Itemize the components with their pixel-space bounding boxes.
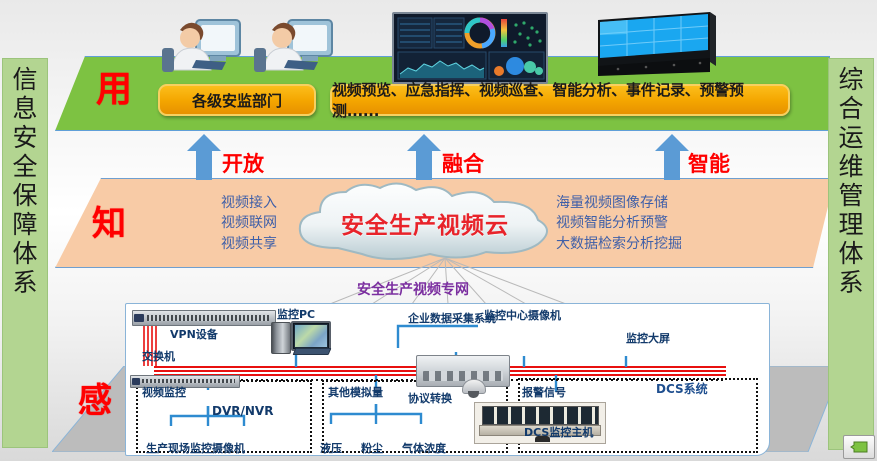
- dvr-nvr-label: DVR/NVR: [212, 404, 273, 418]
- video-wall-illustration: [588, 8, 722, 78]
- field-camera-caption: 生产现场监控摄像机: [146, 440, 245, 456]
- cloud-left-item-line-2: 视频共享: [132, 234, 277, 254]
- keyboard-icon: [293, 348, 332, 355]
- alarm-signal-title: 报警信号: [522, 384, 566, 400]
- left-pillar-char-4: 保: [12, 181, 37, 210]
- monitor-pc-label: 监控PC: [277, 306, 315, 322]
- layer-glyph-use: 用: [96, 60, 132, 112]
- switch-label: 交换机: [142, 348, 175, 364]
- pc-tower-icon: [271, 322, 291, 354]
- left-pillar-char-3: 全: [12, 152, 37, 181]
- bi-dashboard-illustration: [392, 12, 548, 84]
- arrow-label-fusion: 融合: [442, 148, 484, 178]
- cloud-title: 安全生产视频云: [280, 182, 570, 264]
- vpn-device-label: VPN设备: [170, 326, 218, 342]
- sensor-label-dust: 粉尘: [361, 440, 383, 456]
- vpn-device-icon: [132, 310, 276, 326]
- sensor-label-hydraulic: 液压: [320, 440, 342, 456]
- people-at-computers-illustration: [150, 8, 350, 78]
- cloud-right-item-line-1: 视频智能分析预警: [556, 213, 786, 233]
- dcs-host-label: DCS监控主机: [524, 424, 593, 440]
- right-pillar-char-5: 理: [838, 210, 863, 239]
- dcs-system-label: DCS系统: [656, 380, 708, 397]
- cloud-right-item-line-0: 海量视频图像存储: [556, 193, 786, 213]
- control-center-camera-icon: [462, 379, 486, 394]
- right-pillar-char-7: 系: [838, 268, 863, 297]
- right-pillar-char-4: 管: [838, 181, 863, 210]
- left-pillar-information-security: 信息安全保障体系: [2, 58, 48, 448]
- left-pillar-char-1: 息: [12, 94, 37, 123]
- network-topology-panel: VPN设备 交换机 监控PC 企业数据采集系统 监控中心摄像机 监控大屏 视频监…: [125, 303, 770, 456]
- right-pillar-char-0: 综: [838, 65, 863, 94]
- left-pillar-char-6: 体: [12, 239, 37, 268]
- video-surveillance-title: 视频监控: [142, 384, 186, 400]
- left-pillar-char-7: 系: [12, 268, 37, 297]
- monitor-large-screen-label: 监控大屏: [626, 330, 670, 346]
- cloud-right-item-line-2: 大数据检索分析挖掘: [556, 234, 786, 254]
- right-pillar-char-3: 维: [838, 152, 863, 181]
- cloud-left-capabilities: 视频接入视频联网视频共享: [132, 193, 277, 254]
- arrow-intelligent-icon: [655, 134, 689, 180]
- cloud-left-item-line-0: 视频接入: [132, 193, 277, 213]
- right-pillar-char-2: 运: [838, 123, 863, 152]
- function-box[interactable]: 视频预览、应急指挥、视频巡查、智能分析、事件记录、预警预测......: [330, 84, 790, 116]
- cloud-left-item-line-1: 视频联网: [132, 213, 277, 233]
- left-pillar-char-2: 安: [12, 123, 37, 152]
- diagram-canvas: 用 知 感 各级安监部门 视频预览、应急指挥、视频巡查、智能分析、事件记录、预警…: [0, 0, 877, 461]
- layer-glyph-sense: 感: [78, 373, 112, 422]
- protocol-converter-label: 协议转换: [408, 390, 452, 406]
- private-network-label: 安全生产视频专网: [357, 279, 469, 299]
- dept-box[interactable]: 各级安监部门: [158, 84, 316, 116]
- arrow-label-intelligent: 智能: [688, 148, 730, 178]
- arrow-open-icon: [187, 134, 221, 180]
- control-center-camera-label: 监控中心摄像机: [484, 307, 561, 323]
- corner-arrow-icon[interactable]: [843, 435, 875, 459]
- cloud-right-capabilities: 海量视频图像存储视频智能分析预警大数据检索分析挖掘: [556, 193, 786, 254]
- layer-glyph-know: 知: [92, 196, 126, 245]
- analog-signals-title: 其他模拟量: [328, 384, 383, 400]
- left-pillar-char-5: 障: [12, 210, 37, 239]
- data-collection-server-icon: [416, 355, 510, 387]
- right-pillar-ops-management: 综合运维管理体系: [828, 58, 874, 450]
- arrow-fusion-icon: [407, 134, 441, 180]
- pc-monitor-icon: [291, 321, 331, 351]
- right-pillar-char-6: 体: [838, 239, 863, 268]
- arrow-label-open: 开放: [222, 148, 264, 178]
- right-pillar-char-1: 合: [838, 94, 863, 123]
- sensor-label-gas: 气体浓度: [402, 440, 446, 456]
- left-pillar-char-0: 信: [12, 65, 37, 94]
- enterprise-data-collection-label: 企业数据采集系统: [408, 310, 496, 326]
